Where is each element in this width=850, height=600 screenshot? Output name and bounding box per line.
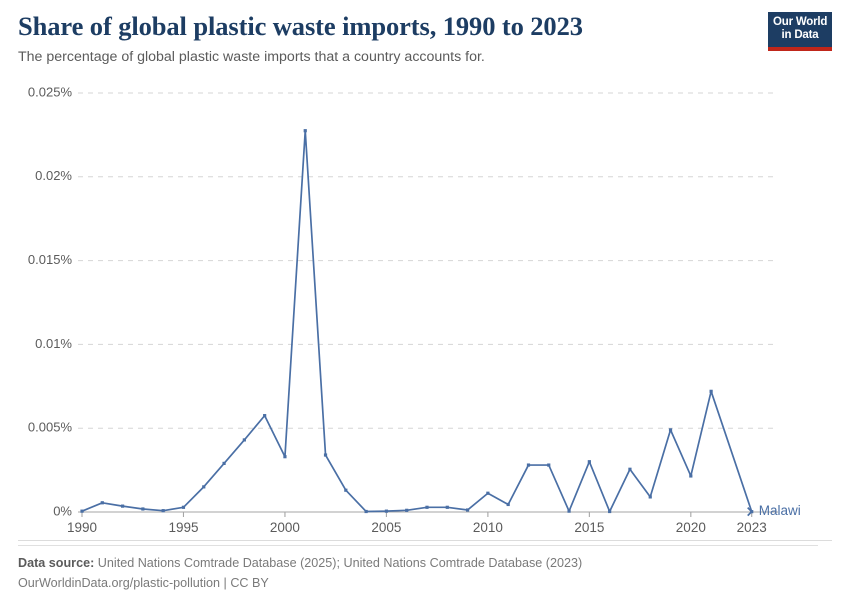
- series-data-point[interactable]: [608, 510, 611, 513]
- y-axis-tick-label: 0%: [53, 503, 72, 518]
- series-data-point[interactable]: [162, 509, 165, 512]
- y-axis-tick-label: 0.025%: [28, 85, 73, 99]
- series-data-point[interactable]: [588, 460, 591, 463]
- series-data-point[interactable]: [141, 507, 144, 510]
- chart-subtitle: The percentage of global plastic waste i…: [18, 48, 748, 66]
- x-axis-tick-label: 2000: [270, 520, 300, 535]
- series-data-point[interactable]: [344, 489, 347, 492]
- x-axis-tick-label: 2010: [473, 520, 503, 535]
- series-data-point[interactable]: [527, 463, 530, 466]
- data-source-line: Data source: United Nations Comtrade Dat…: [18, 554, 818, 574]
- series-line-malawi[interactable]: [82, 131, 752, 512]
- series-data-point[interactable]: [689, 474, 692, 477]
- series-data-point[interactable]: [324, 453, 327, 456]
- x-axis-tick-label: 2005: [371, 520, 401, 535]
- license-line[interactable]: OurWorldinData.org/plastic-pollution | C…: [18, 574, 818, 594]
- series-data-point[interactable]: [425, 506, 428, 509]
- series-data-point[interactable]: [182, 506, 185, 509]
- y-axis-tick-label: 0.015%: [28, 252, 73, 267]
- line-chart-svg[interactable]: 0%0.005%0.01%0.015%0.02%0.025%1990199520…: [0, 85, 850, 535]
- x-axis-tick-label: 2020: [676, 520, 706, 535]
- series-data-point[interactable]: [243, 438, 246, 441]
- page-title: Share of global plastic waste imports, 1…: [18, 12, 748, 42]
- x-axis-tick-label: 2023: [737, 520, 767, 535]
- series-data-point[interactable]: [405, 509, 408, 512]
- series-data-point[interactable]: [121, 505, 124, 508]
- logo-line-2: in Data: [773, 29, 827, 42]
- x-axis-tick-label: 2015: [574, 520, 604, 535]
- series-data-point[interactable]: [202, 485, 205, 488]
- series-data-point[interactable]: [446, 506, 449, 509]
- series-data-point[interactable]: [649, 495, 652, 498]
- series-data-point[interactable]: [466, 508, 469, 511]
- y-axis-tick-label: 0.02%: [35, 168, 72, 183]
- series-data-point[interactable]: [547, 463, 550, 466]
- series-data-point[interactable]: [628, 468, 631, 471]
- footer-divider: [18, 540, 832, 541]
- series-end-label-malawi[interactable]: Malawi: [759, 503, 801, 518]
- x-axis-tick-label: 1990: [67, 520, 97, 535]
- series-data-point[interactable]: [365, 510, 368, 513]
- series-data-point[interactable]: [486, 492, 489, 495]
- x-axis-tick-label: 1995: [168, 520, 198, 535]
- series-data-point[interactable]: [283, 455, 286, 458]
- logo-line-1: Our World: [773, 16, 827, 29]
- series-data-point[interactable]: [304, 129, 307, 132]
- series-data-point[interactable]: [80, 510, 83, 513]
- chart-footer: Data source: United Nations Comtrade Dat…: [18, 545, 818, 593]
- series-data-point[interactable]: [507, 503, 510, 506]
- series-data-point[interactable]: [567, 510, 570, 513]
- series-data-point[interactable]: [710, 390, 713, 393]
- data-source-label: Data source:: [18, 556, 94, 570]
- chart-header: Share of global plastic waste imports, 1…: [18, 12, 748, 66]
- series-data-point[interactable]: [263, 414, 266, 417]
- chart-plot-area[interactable]: 0%0.005%0.01%0.015%0.02%0.025%1990199520…: [0, 85, 850, 535]
- y-axis-tick-label: 0.01%: [35, 336, 72, 351]
- series-data-point[interactable]: [385, 510, 388, 513]
- our-world-in-data-logo[interactable]: Our World in Data: [768, 12, 832, 51]
- series-data-point[interactable]: [669, 428, 672, 431]
- y-axis-tick-label: 0.005%: [28, 420, 73, 435]
- data-source-text: United Nations Comtrade Database (2025);…: [98, 556, 582, 570]
- series-data-point[interactable]: [222, 462, 225, 465]
- series-data-point[interactable]: [101, 501, 104, 504]
